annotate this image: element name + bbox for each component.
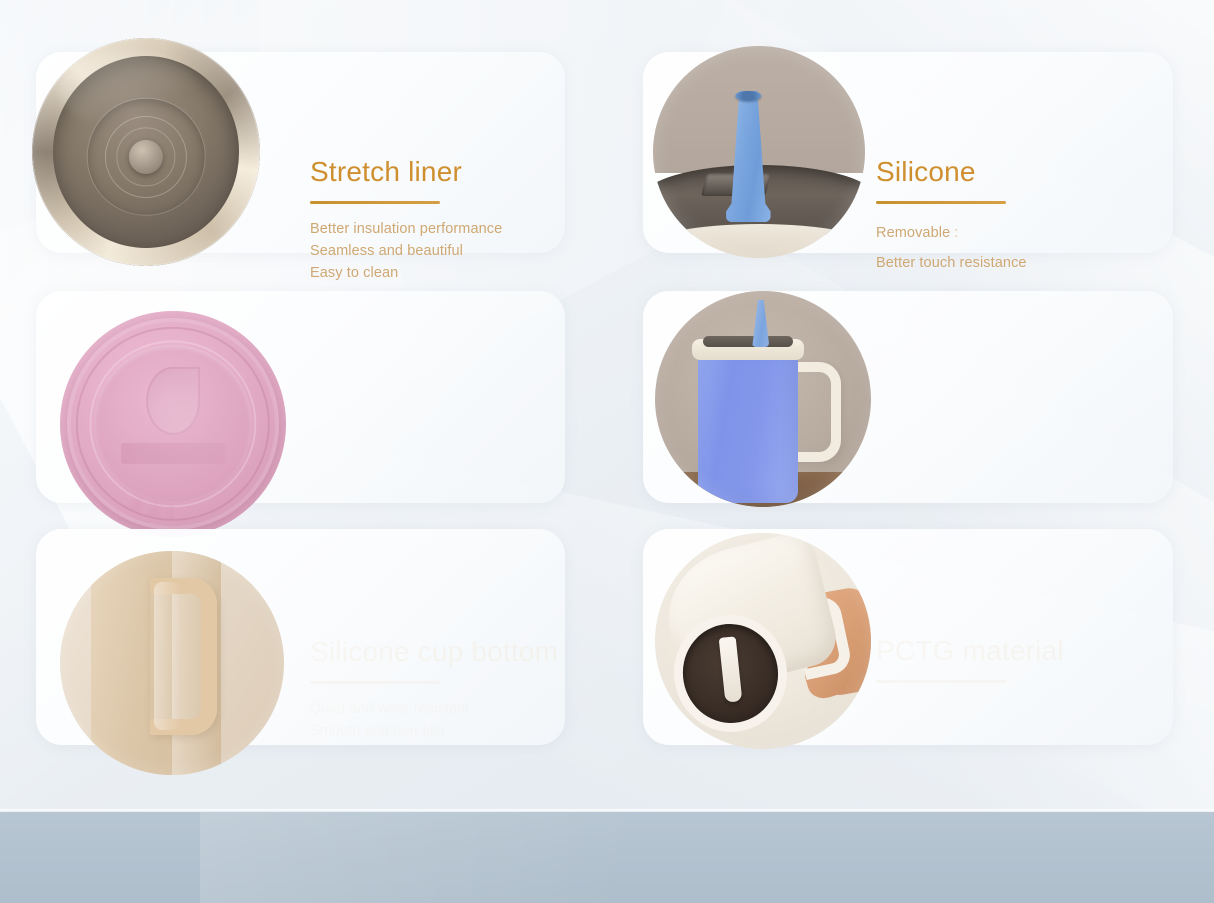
- leak-proof-photo: [655, 533, 871, 749]
- feature-card-leak-proof[interactable]: 100% leak proof: [643, 529, 1173, 745]
- feature-card-silicone-cup-bottom[interactable]: Silicone cup bottom Quiet and wear resis…: [36, 291, 565, 503]
- trailing-mark: :: [950, 225, 958, 241]
- feature-subtext: Removable: Better touch resistance: [876, 218, 1027, 279]
- pctg-tumbler-photo: [655, 291, 871, 507]
- feature-subline: Easy to clean: [310, 262, 502, 284]
- feature-card-pctg-material[interactable]: PCTG material: [643, 291, 1173, 503]
- title-underline: [876, 201, 1006, 204]
- infographic-canvas: Stretch liner Better insulation performa…: [0, 0, 1214, 903]
- feature-text-silicone: Silicone Removable: Better touch resista…: [876, 157, 1027, 279]
- feature-text-stretch-liner: Stretch liner Better insulation performa…: [310, 157, 502, 284]
- feature-subline: Removable:: [876, 218, 1027, 248]
- feature-card-grid: Stretch liner Better insulation performa…: [0, 0, 1214, 812]
- feature-title: Stretch liner: [310, 157, 502, 188]
- comfort-handle-photo: [60, 551, 284, 775]
- feature-subtext: Better insulation performance Seamless a…: [310, 218, 502, 284]
- feature-subline: Better touch resistance: [876, 248, 1027, 278]
- bottom-band: [0, 812, 1214, 903]
- feature-card-comfort-handle[interactable]: Comfort Handle Comfortable and durable F…: [36, 529, 565, 745]
- silicone-spout-photo: [653, 46, 865, 258]
- stretch-liner-photo: [32, 38, 260, 266]
- feature-card-stretch-liner[interactable]: Stretch liner Better insulation performa…: [36, 52, 565, 253]
- feature-subline: Seamless and beautiful: [310, 240, 502, 262]
- title-underline: [310, 201, 440, 204]
- feature-card-silicone[interactable]: Silicone Removable: Better touch resista…: [643, 52, 1173, 253]
- feature-subline: Better insulation performance: [310, 218, 502, 240]
- feature-title: Silicone: [876, 157, 1027, 188]
- silicone-cup-bottom-photo: [60, 311, 286, 537]
